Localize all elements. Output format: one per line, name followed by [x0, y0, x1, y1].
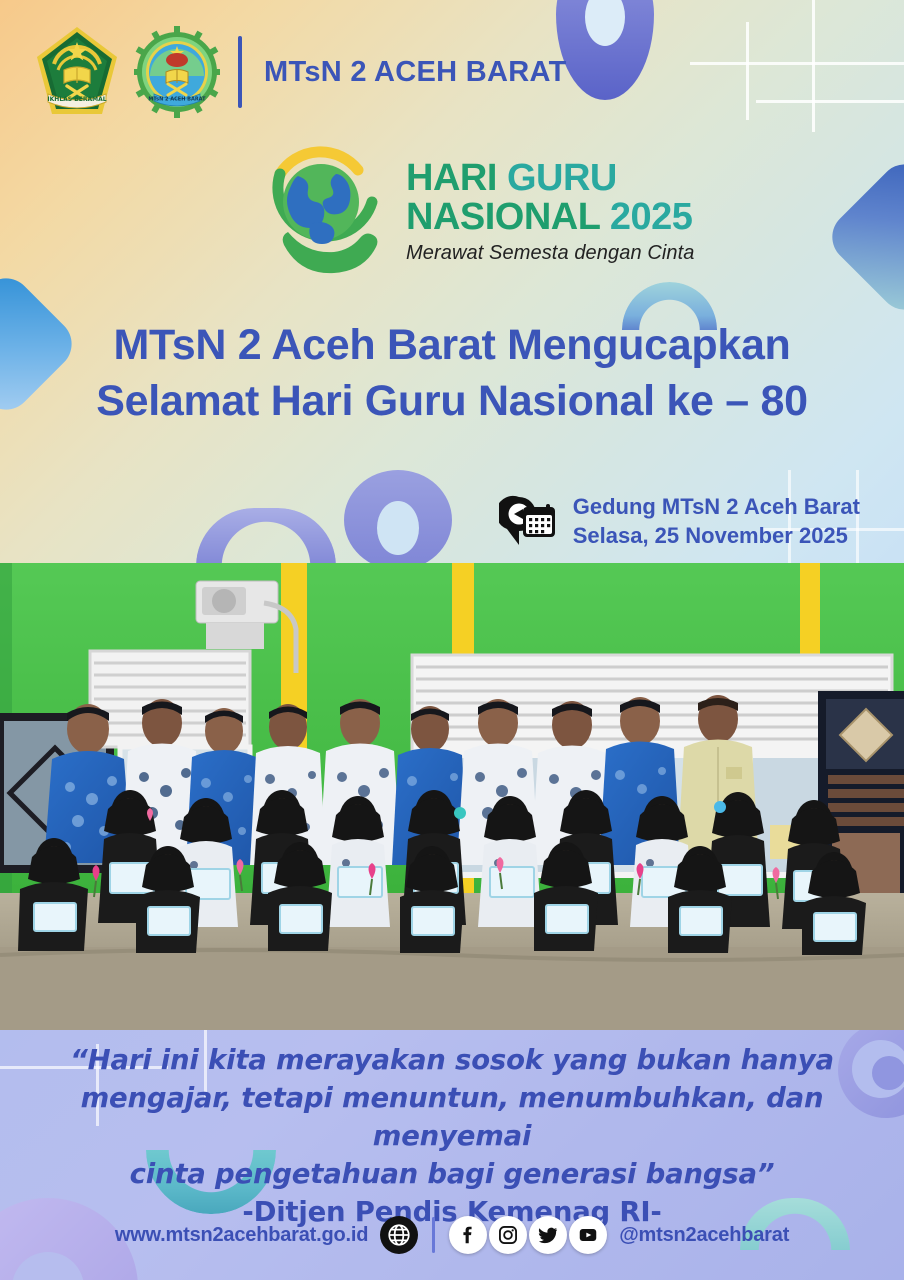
hari-guru-nasional-logo-block: HARI GURU NASIONAL 2025 Merawat Semesta …: [258, 140, 695, 280]
footer-bar: www.mtsn2acehbarat.go.id: [0, 1216, 904, 1254]
grid-line-v: [746, 22, 749, 120]
facebook-icon[interactable]: [449, 1216, 487, 1254]
venue-text: Gedung MTsN 2 Aceh Barat Selasa, 25 Nove…: [573, 492, 860, 550]
instagram-icon[interactable]: [489, 1216, 527, 1254]
headline-line-1: MTsN 2 Aceh Barat Mengucapkan: [0, 318, 904, 374]
globe-in-hand-logo: [258, 140, 388, 280]
grid-line-h: [756, 100, 904, 103]
quote-footer-panel: “Hari ini kita merayakan sosok yang buka…: [0, 1030, 904, 1280]
grid-line-v: [812, 0, 815, 132]
header-divider: [238, 36, 242, 108]
website-link[interactable]: www.mtsn2acehbarat.go.id: [115, 1224, 368, 1247]
globe-icon[interactable]: [380, 1216, 418, 1254]
arch-decor-hero-left: [196, 508, 336, 566]
page-title: MTsN 2 Aceh Barat Mengucapkan Selamat Ha…: [0, 318, 904, 430]
youtube-icon[interactable]: [569, 1216, 607, 1254]
school-name: MTsN 2 ACEH BARAT: [264, 56, 567, 89]
venue-info: Gedung MTsN 2 Aceh Barat Selasa, 25 Nove…: [499, 492, 860, 550]
ring-decor-photo-edge: [344, 470, 452, 570]
hgn-tagline: Merawat Semesta dengan Cinta: [406, 242, 695, 265]
venue-place: Gedung MTsN 2 Aceh Barat: [573, 492, 860, 521]
social-links: [449, 1216, 607, 1254]
svg-text:MTsN 2 ACEH BARAT: MTsN 2 ACEH BARAT: [148, 97, 206, 103]
hgn-title-line2: NASIONAL 2025: [406, 198, 695, 237]
headline-line-2: Selamat Hari Guru Nasional ke – 80: [0, 374, 904, 430]
quote-block: “Hari ini kita merayakan sosok yang buka…: [0, 1042, 904, 1232]
svg-text:IKHLAS BERAMAL: IKHLAS BERAMAL: [47, 96, 106, 103]
diamond-decor-right: [822, 154, 904, 321]
location-calendar-icon: [499, 495, 559, 547]
twitter-icon[interactable]: [529, 1216, 567, 1254]
quote-line-2: mengajar, tetapi menuntun, menumbuhkan, …: [0, 1080, 904, 1156]
grid-line-h: [690, 62, 904, 65]
kemenag-logo: IKHLAS BERAMAL: [34, 24, 120, 120]
quote-line-3: cinta pengetahuan bagi generasi bangsa”: [0, 1156, 904, 1194]
group-photo: [0, 563, 904, 1030]
venue-date: Selasa, 25 November 2025: [573, 521, 860, 550]
footer-divider: [432, 1217, 435, 1253]
quote-line-1: “Hari ini kita merayakan sosok yang buka…: [0, 1042, 904, 1080]
brand-header: IKHLAS BERAMAL: [34, 24, 567, 120]
poster-canvas: IKHLAS BERAMAL: [0, 0, 904, 1280]
mtsn2-aceh-barat-logo: MTsN 2 ACEH BARAT: [134, 24, 220, 120]
ring-decor-top: [556, 0, 654, 100]
social-handle[interactable]: @mtsn2acehbarat: [619, 1224, 789, 1247]
hgn-title-line1: HARI GURU: [406, 159, 695, 198]
